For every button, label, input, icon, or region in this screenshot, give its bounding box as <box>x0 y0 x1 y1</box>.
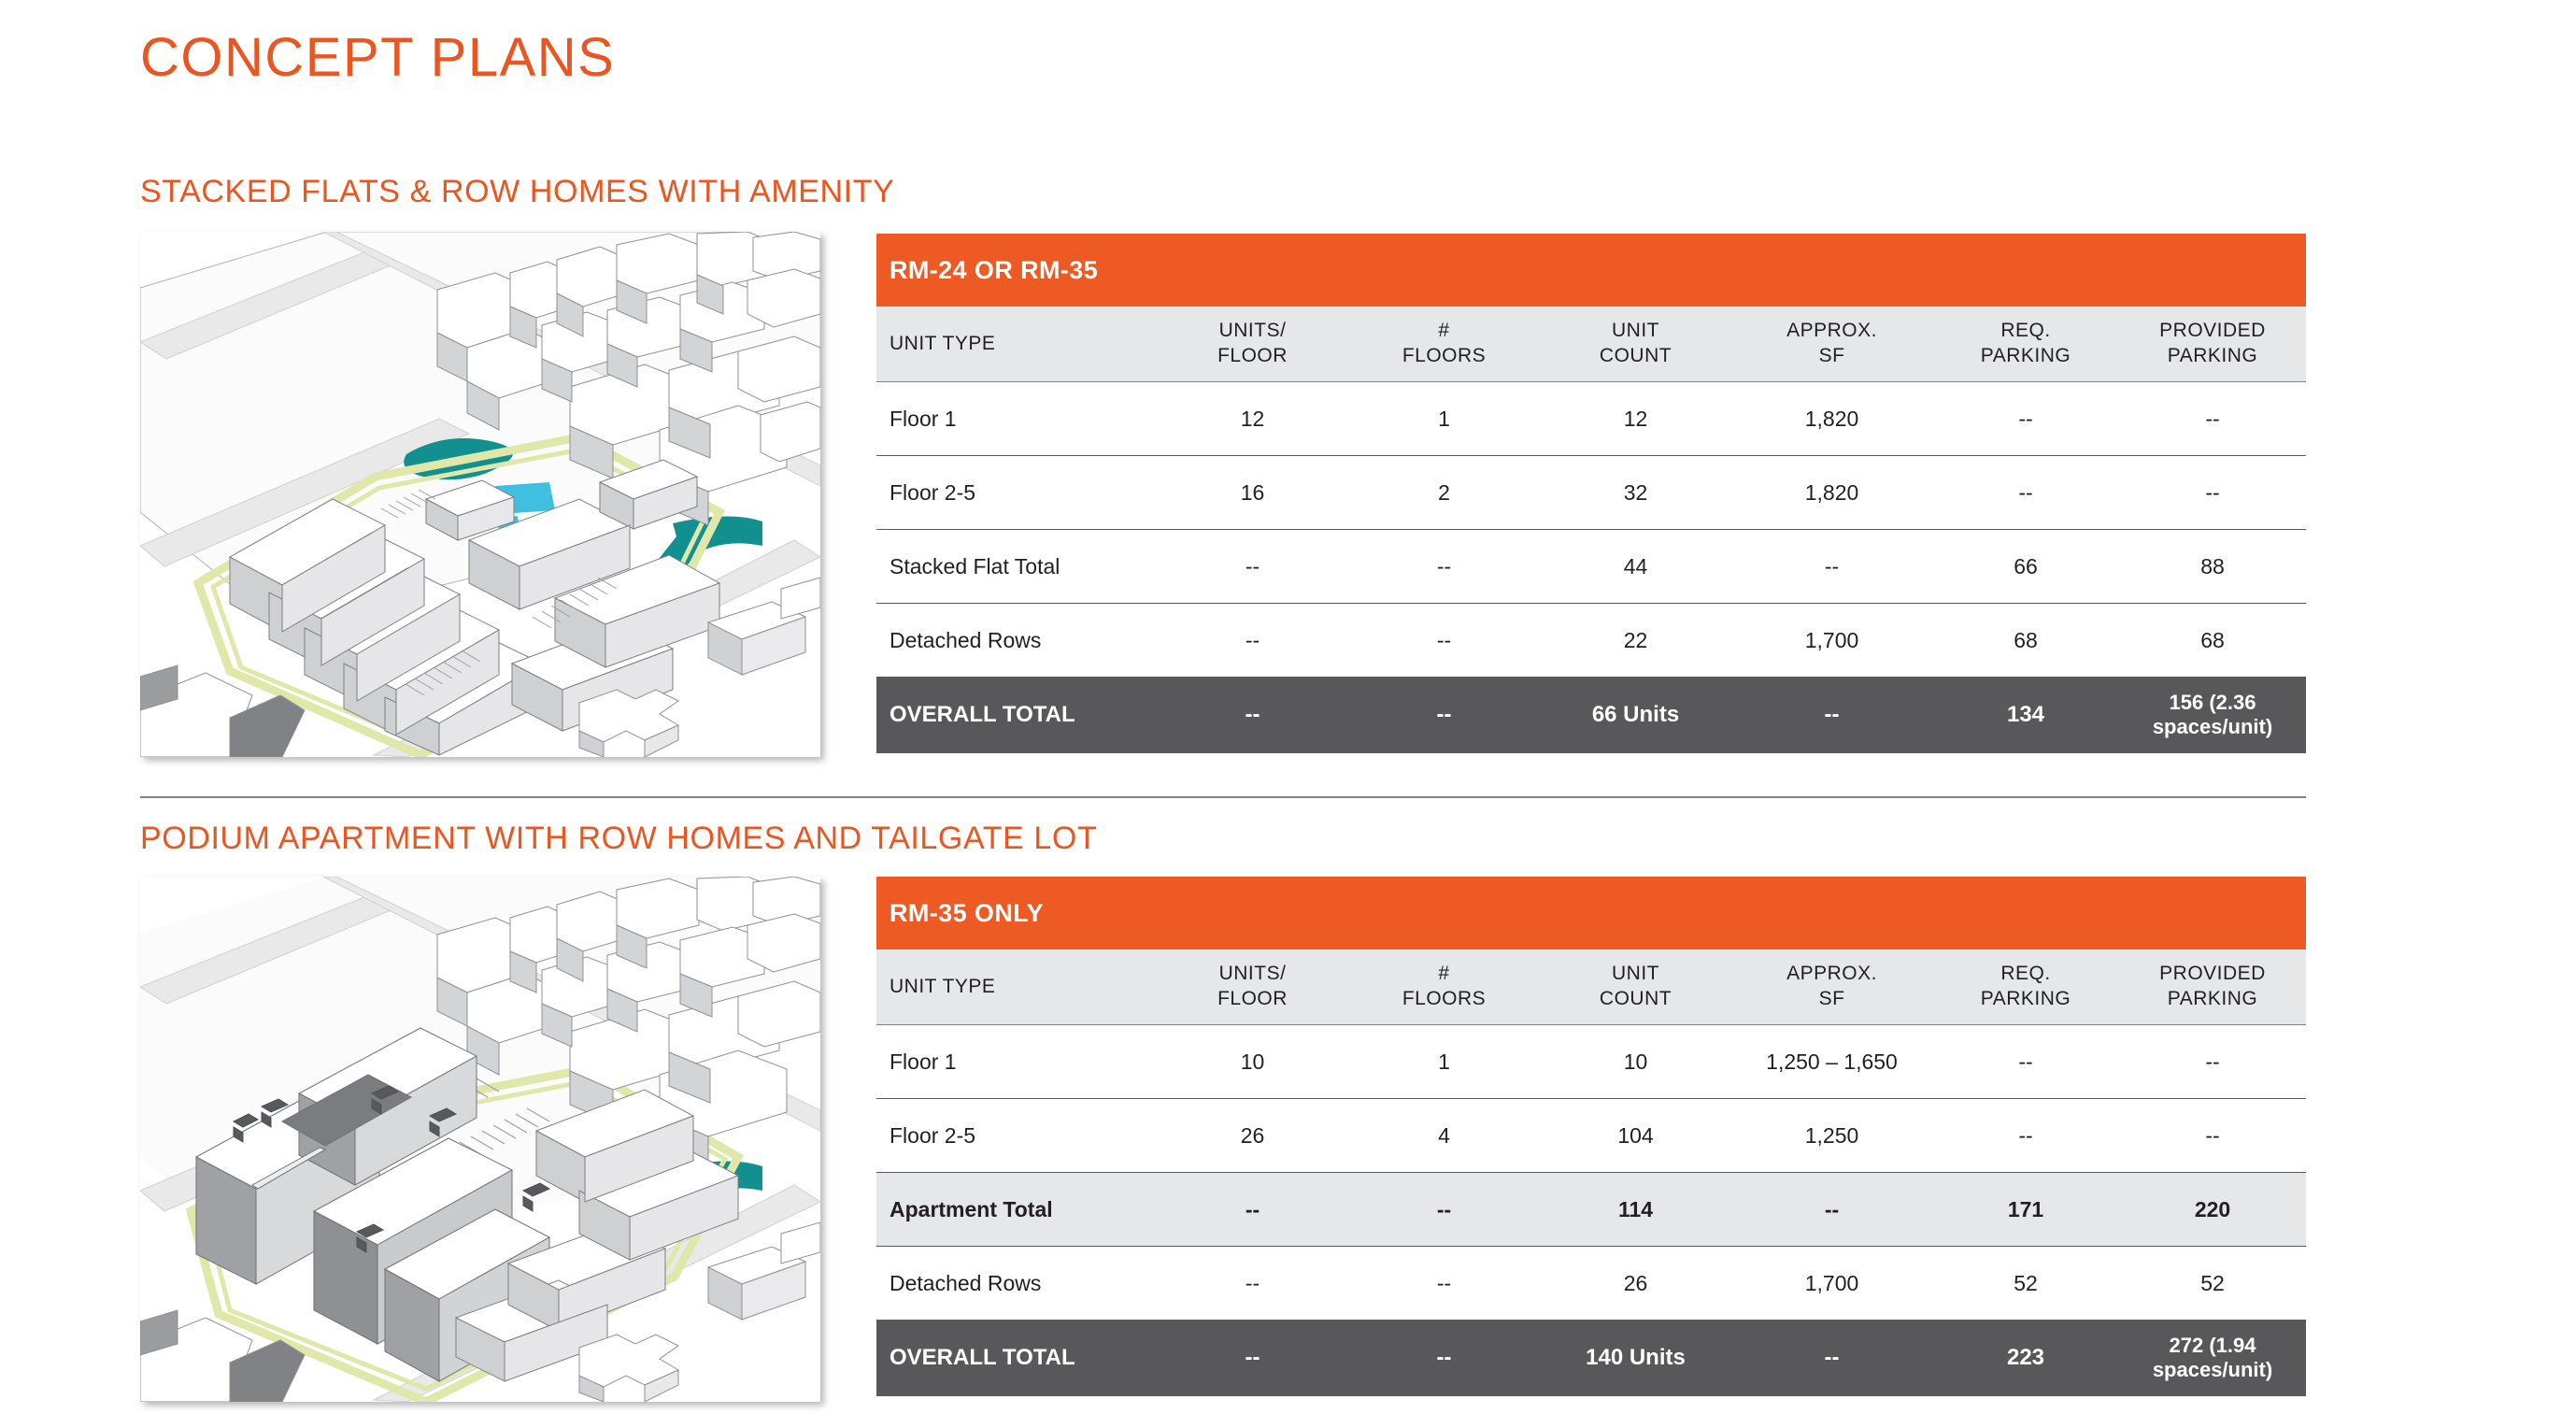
cell-req-parking: -- <box>1932 456 2119 530</box>
cell-total-req-parking: 134 <box>1932 677 2119 753</box>
cell-approx-sf: 1,250 – 1,650 <box>1731 1025 1932 1099</box>
cell-unit-type: Detached Rows <box>876 604 1157 678</box>
section-title-2: PODIUM APARTMENT WITH ROW HOMES AND TAIL… <box>140 821 1097 857</box>
table-row: Floor 2-5 26 4 104 1,250 -- -- <box>876 1099 2306 1173</box>
cell-total-unit-count: 66 Units <box>1540 677 1731 753</box>
col-header-units-per-floor: UNITS/FLOOR <box>1157 950 1348 1025</box>
cell-provided-parking: -- <box>2119 1025 2306 1099</box>
cell-unit-count: 10 <box>1540 1025 1731 1099</box>
cell-req-parking: -- <box>1932 1099 2119 1173</box>
spec-table-1: RM-24 OR RM-35 UNIT TYPE UNITS/FLOOR #FL… <box>876 234 2306 753</box>
cell-approx-sf: 1,820 <box>1731 456 1932 530</box>
cell-approx-sf: -- <box>1731 530 1932 604</box>
col-header-unit-count: UNITCOUNT <box>1540 950 1731 1025</box>
cell-num-floors: 1 <box>1348 382 1540 456</box>
cell-provided-parking: 68 <box>2119 604 2306 678</box>
cell-units-per-floor: 26 <box>1157 1099 1348 1173</box>
table-row: Apartment Total -- -- 114 -- 171 220 <box>876 1173 2306 1247</box>
cell-provided-parking: -- <box>2119 382 2306 456</box>
cell-unit-type: Floor 2-5 <box>876 456 1157 530</box>
cell-unit-type: Apartment Total <box>876 1173 1157 1247</box>
cell-total-num-floors: -- <box>1348 677 1540 753</box>
cell-approx-sf: 1,700 <box>1731 604 1932 678</box>
section-title-1: STACKED FLATS & ROW HOMES WITH AMENITY <box>140 174 894 210</box>
cell-num-floors: 2 <box>1348 456 1540 530</box>
cell-unit-count: 12 <box>1540 382 1731 456</box>
cell-unit-count: 104 <box>1540 1099 1731 1173</box>
table-row: Detached Rows -- -- 22 1,700 68 68 <box>876 604 2306 678</box>
cell-unit-count: 32 <box>1540 456 1731 530</box>
table-header-row: UNIT TYPE UNITS/FLOOR #FLOORS UNITCOUNT … <box>876 307 2306 382</box>
cell-total-unit-count: 140 Units <box>1540 1320 1731 1396</box>
cell-total-provided-parking: 272 (1.94 spaces/unit) <box>2119 1320 2306 1396</box>
cell-units-per-floor: 12 <box>1157 382 1348 456</box>
concept-rendering-image-2 <box>140 877 820 1402</box>
page-title: CONCEPT PLANS <box>140 26 615 89</box>
cell-units-per-floor: -- <box>1157 1247 1348 1321</box>
cell-num-floors: 4 <box>1348 1099 1540 1173</box>
cell-total-req-parking: 223 <box>1932 1320 2119 1396</box>
massing-diagram-2 <box>140 877 820 1402</box>
cell-unit-type: Stacked Flat Total <box>876 530 1157 604</box>
cell-unit-type: Detached Rows <box>876 1247 1157 1321</box>
table-total-row: OVERALL TOTAL -- -- 66 Units -- 134 156 … <box>876 677 2306 753</box>
col-header-unit-count: UNITCOUNT <box>1540 307 1731 382</box>
col-header-req-parking: REQ.PARKING <box>1932 307 2119 382</box>
table-banner-label: RM-35 ONLY <box>876 899 2306 928</box>
col-header-approx-sf: APPROX.SF <box>1731 950 1932 1025</box>
table-banner-label: RM-24 OR RM-35 <box>876 256 2306 285</box>
cell-approx-sf: 1,820 <box>1731 382 1932 456</box>
cell-units-per-floor: 10 <box>1157 1025 1348 1099</box>
col-header-req-parking: REQ.PARKING <box>1932 950 2119 1025</box>
col-header-provided-parking: PROVIDEDPARKING <box>2119 950 2306 1025</box>
massing-diagram-1 <box>140 232 820 757</box>
table-total-row: OVERALL TOTAL -- -- 140 Units -- 223 272… <box>876 1320 2306 1396</box>
cell-unit-count: 22 <box>1540 604 1731 678</box>
cell-provided-parking: 88 <box>2119 530 2306 604</box>
cell-unit-type: Floor 2-5 <box>876 1099 1157 1173</box>
cell-req-parking: 68 <box>1932 604 2119 678</box>
cell-approx-sf: 1,700 <box>1731 1247 1932 1321</box>
spec-table-2: RM-35 ONLY UNIT TYPE UNITS/FLOOR #FLOORS… <box>876 877 2306 1396</box>
cell-total-provided-parking: 156 (2.36 spaces/unit) <box>2119 677 2306 753</box>
cell-num-floors: -- <box>1348 1173 1540 1247</box>
cell-total-approx-sf: -- <box>1731 677 1932 753</box>
cell-total-units-per-floor: -- <box>1157 677 1348 753</box>
cell-total-label: OVERALL TOTAL <box>876 1320 1157 1396</box>
cell-units-per-floor: -- <box>1157 530 1348 604</box>
table-row: Floor 1 10 1 10 1,250 – 1,650 -- -- <box>876 1025 2306 1099</box>
cell-unit-type: Floor 1 <box>876 1025 1157 1099</box>
table-row: Floor 2-5 16 2 32 1,820 -- -- <box>876 456 2306 530</box>
section-divider <box>140 796 2306 798</box>
cell-approx-sf: -- <box>1731 1173 1932 1247</box>
cell-req-parking: 66 <box>1932 530 2119 604</box>
table-banner-row: RM-24 OR RM-35 <box>876 234 2306 307</box>
concept-rendering-image-1 <box>140 232 820 757</box>
table-row: Stacked Flat Total -- -- 44 -- 66 88 <box>876 530 2306 604</box>
cell-unit-count: 26 <box>1540 1247 1731 1321</box>
cell-provided-parking: 220 <box>2119 1173 2306 1247</box>
cell-req-parking: -- <box>1932 382 2119 456</box>
cell-total-units-per-floor: -- <box>1157 1320 1348 1396</box>
cell-unit-count: 114 <box>1540 1173 1731 1247</box>
cell-req-parking: 171 <box>1932 1173 2119 1247</box>
cell-req-parking: 52 <box>1932 1247 2119 1321</box>
cell-req-parking: -- <box>1932 1025 2119 1099</box>
col-header-num-floors: #FLOORS <box>1348 950 1540 1025</box>
col-header-unit-type: UNIT TYPE <box>876 950 1157 1025</box>
col-header-unit-type: UNIT TYPE <box>876 307 1157 382</box>
col-header-approx-sf: APPROX.SF <box>1731 307 1932 382</box>
cell-num-floors: -- <box>1348 530 1540 604</box>
table-row: Floor 1 12 1 12 1,820 -- -- <box>876 382 2306 456</box>
cell-total-num-floors: -- <box>1348 1320 1540 1396</box>
cell-unit-count: 44 <box>1540 530 1731 604</box>
table-banner-row: RM-35 ONLY <box>876 877 2306 950</box>
cell-provided-parking: -- <box>2119 1099 2306 1173</box>
col-header-num-floors: #FLOORS <box>1348 307 1540 382</box>
cell-num-floors: -- <box>1348 1247 1540 1321</box>
cell-provided-parking: 52 <box>2119 1247 2306 1321</box>
cell-units-per-floor: 16 <box>1157 456 1348 530</box>
cell-num-floors: -- <box>1348 604 1540 678</box>
cell-unit-type: Floor 1 <box>876 382 1157 456</box>
cell-units-per-floor: -- <box>1157 1173 1348 1247</box>
cell-approx-sf: 1,250 <box>1731 1099 1932 1173</box>
cell-num-floors: 1 <box>1348 1025 1540 1099</box>
table-row: Detached Rows -- -- 26 1,700 52 52 <box>876 1247 2306 1321</box>
col-header-provided-parking: PROVIDEDPARKING <box>2119 307 2306 382</box>
cell-provided-parking: -- <box>2119 456 2306 530</box>
cell-total-approx-sf: -- <box>1731 1320 1932 1396</box>
cell-total-label: OVERALL TOTAL <box>876 677 1157 753</box>
table-header-row: UNIT TYPE UNITS/FLOOR #FLOORS UNITCOUNT … <box>876 950 2306 1025</box>
col-header-units-per-floor: UNITS/FLOOR <box>1157 307 1348 382</box>
cell-units-per-floor: -- <box>1157 604 1348 678</box>
